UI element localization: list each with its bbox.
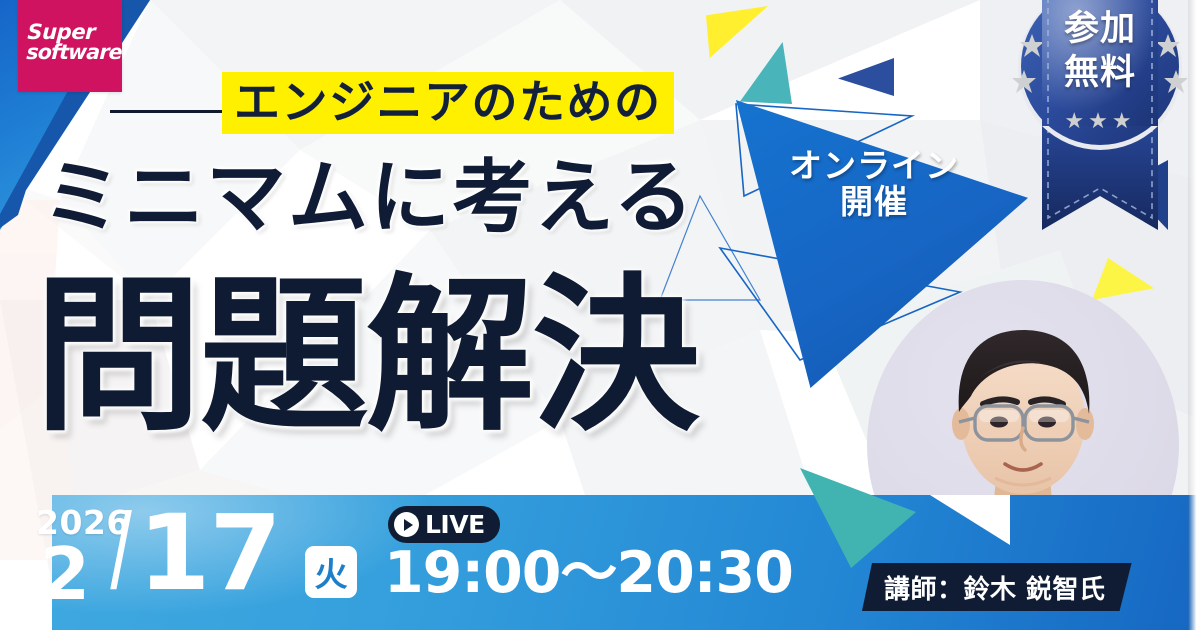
event-month: 2 bbox=[40, 538, 90, 610]
headline-line2: ミニマムに考える bbox=[42, 158, 696, 238]
online-event-label: オンライン 開催 bbox=[740, 148, 1008, 221]
play-icon bbox=[394, 512, 419, 537]
live-badge: LIVE bbox=[388, 506, 500, 543]
headline-eyebrow-highlight: エンジニアのための bbox=[222, 72, 674, 134]
online-label-line1: オンライン bbox=[789, 146, 959, 185]
right-edge-shadow bbox=[1188, 0, 1200, 630]
event-day-of-week: 火 bbox=[305, 546, 357, 598]
headline-eyebrow-text: エンジニアのための bbox=[234, 79, 662, 125]
event-day: 17 bbox=[138, 501, 281, 605]
brand-logo-text: Super software bbox=[26, 22, 123, 62]
date-separator: / bbox=[110, 497, 132, 605]
live-badge-label: LIVE bbox=[425, 510, 485, 539]
brand-logo: Super software bbox=[18, 0, 122, 92]
headline-line3: 問題解決 bbox=[34, 272, 698, 440]
speaker-name-text: 講師：鈴木 鋭智氏 bbox=[884, 569, 1106, 606]
brand-logo-line2: software bbox=[26, 42, 122, 62]
brand-logo-line1: Super bbox=[27, 22, 123, 42]
free-participation-badge: 参加 無料 ★★★ bbox=[1002, 0, 1198, 238]
free-badge-text: 参加 無料 bbox=[1002, 8, 1198, 96]
speaker-name-banner: 講師：鈴木 鋭智氏 bbox=[862, 563, 1132, 611]
free-badge-line2: 無料 bbox=[1002, 52, 1198, 96]
free-badge-line1: 参加 bbox=[1064, 9, 1136, 49]
free-badge-stars: ★★★ bbox=[1002, 108, 1198, 134]
online-label-line2: 開催 bbox=[740, 184, 1008, 220]
banner-canvas: Super software オンライン 開催 エンジニアのための ミニマムに考… bbox=[0, 0, 1200, 630]
event-time: 19:00〜20:30 bbox=[384, 545, 793, 602]
